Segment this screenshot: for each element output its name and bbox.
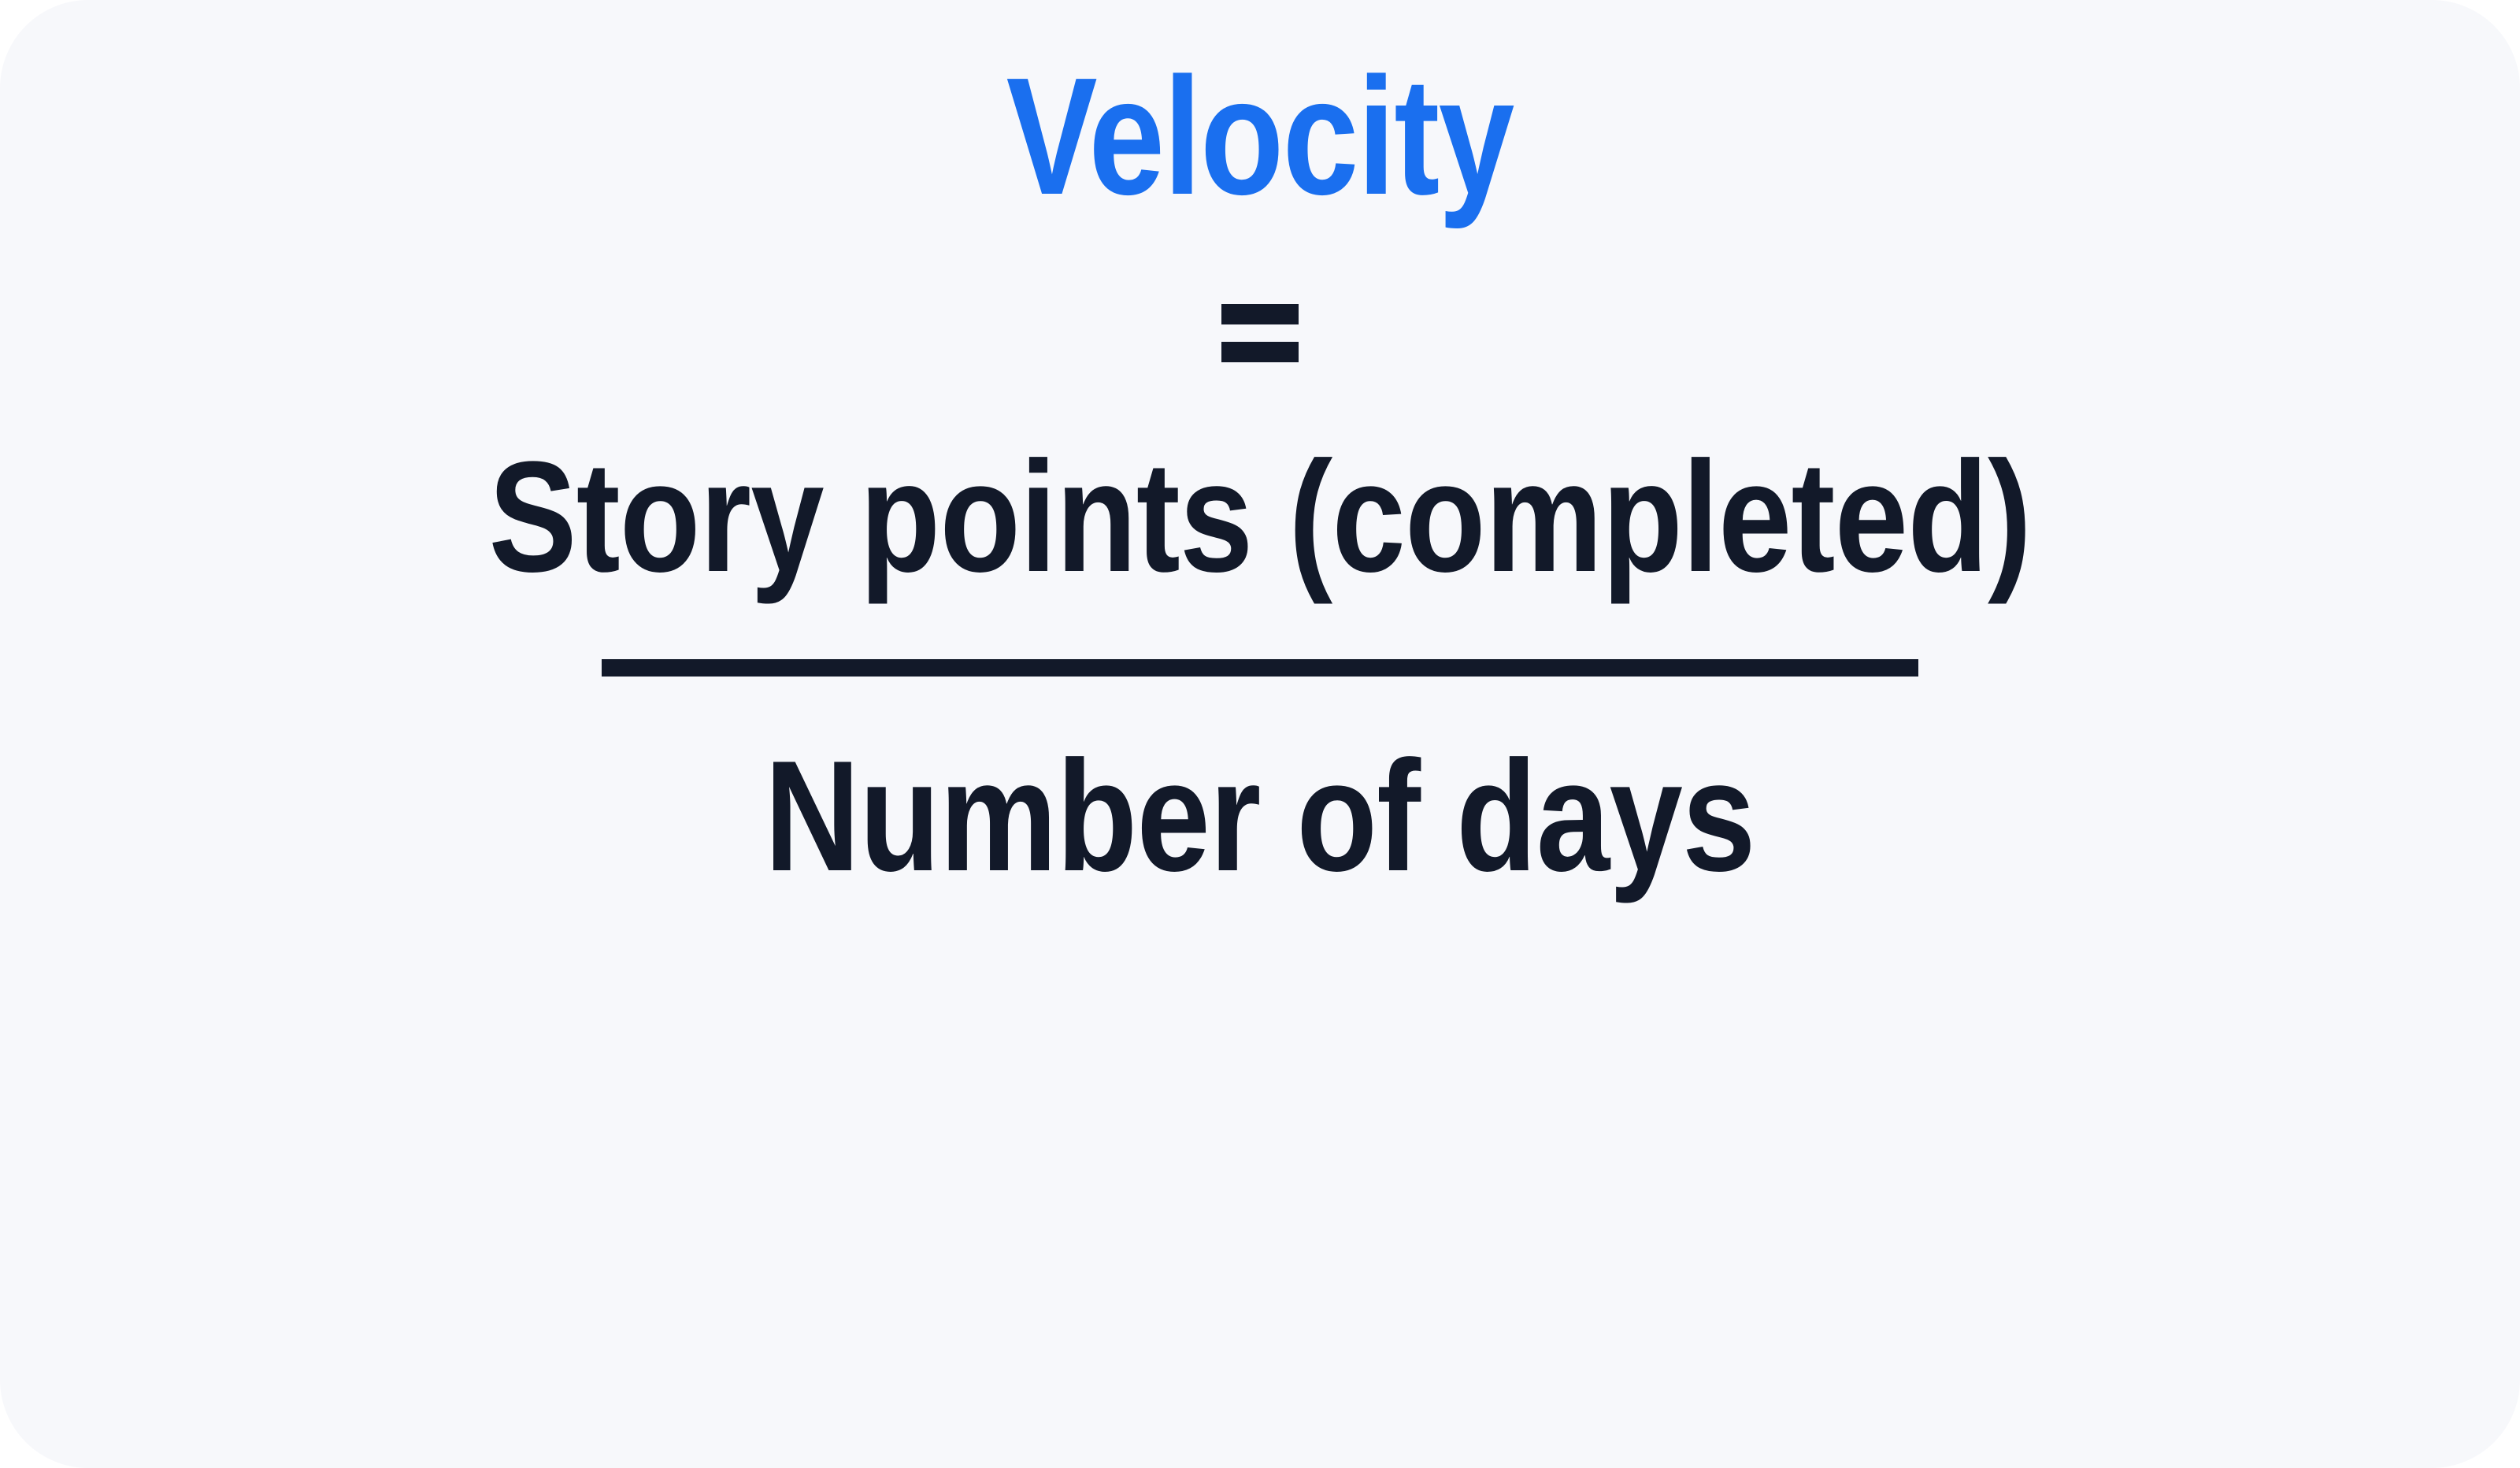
equals-bar-bottom — [1221, 342, 1299, 362]
formula-title: Velocity — [1006, 49, 1514, 224]
fraction-denominator: Number of days — [765, 728, 1755, 905]
formula-card: Velocity Story points (completed) Number… — [0, 0, 2520, 1468]
velocity-formula: Velocity Story points (completed) Number… — [0, 0, 2520, 1468]
equals-sign — [1221, 286, 1299, 380]
fraction-numerator: Story points (completed) — [489, 429, 2032, 606]
equals-bar-top — [1221, 304, 1299, 324]
fraction: Story points (completed) Number of days — [342, 429, 2178, 905]
fraction-bar — [602, 659, 1918, 677]
